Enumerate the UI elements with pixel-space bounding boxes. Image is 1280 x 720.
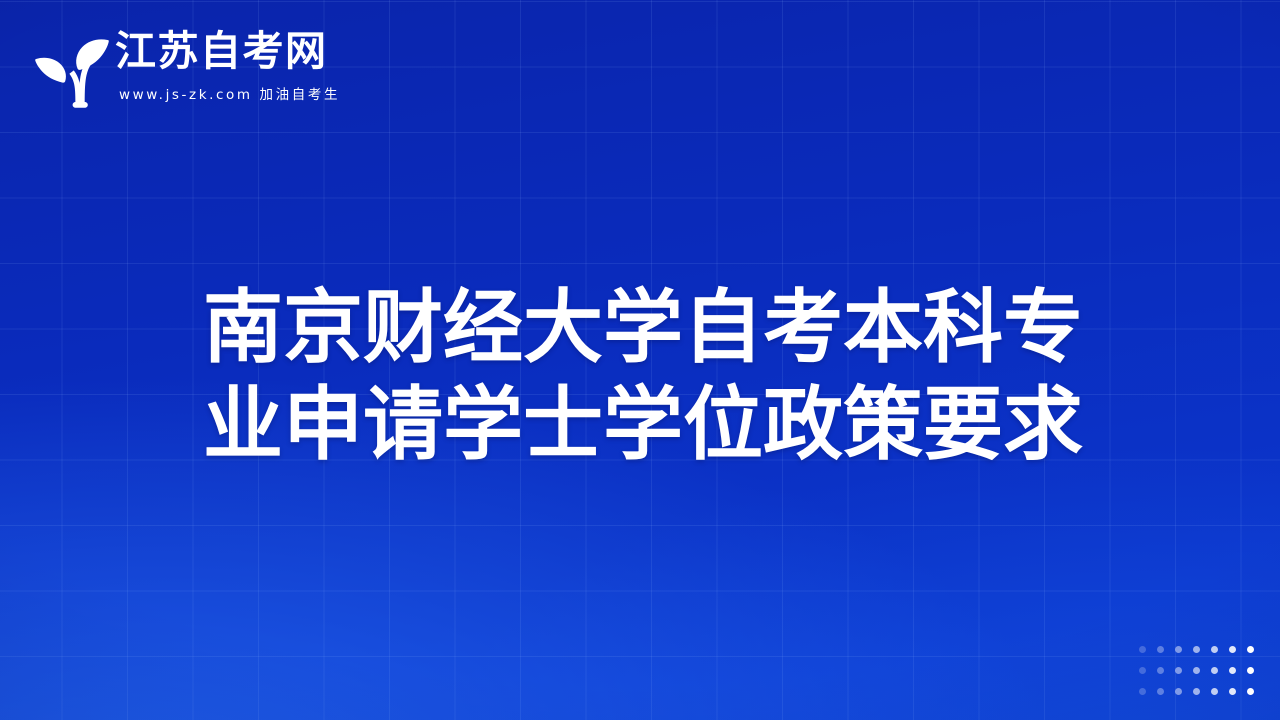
matrix-dot [1229, 667, 1236, 674]
matrix-dot [1157, 667, 1164, 674]
matrix-dot [1157, 646, 1164, 653]
matrix-dot [1211, 688, 1218, 695]
matrix-dot [1175, 688, 1182, 695]
matrix-dot [1247, 646, 1254, 653]
sprout-leaf-icon [33, 31, 111, 111]
matrix-dot [1229, 688, 1236, 695]
site-logo[interactable]: 江苏自考网 www.js-zk.com 加油自考生 [33, 28, 340, 111]
page-title-line-1: 南京财经大学自考本科专 [203, 279, 1093, 376]
matrix-dot [1247, 688, 1254, 695]
matrix-dot [1193, 667, 1200, 674]
page-title: 南京财经大学自考本科专 业申请学士学位政策要求 [203, 279, 1093, 473]
matrix-dot [1211, 667, 1218, 674]
matrix-dot [1175, 667, 1182, 674]
matrix-dot [1157, 688, 1164, 695]
gradient-ring-icon-top-right [1055, 7, 1261, 213]
gradient-ring-icon-bottom-left [10, 529, 182, 701]
logo-title: 江苏自考网 [115, 30, 340, 73]
matrix-dot [1139, 646, 1146, 653]
matrix-dot [1175, 646, 1182, 653]
matrix-dot [1211, 646, 1218, 653]
slide-canvas: 江苏自考网 www.js-zk.com 加油自考生 南京财经大学自考本科专 业申… [0, 0, 1280, 720]
logo-text-block: 江苏自考网 www.js-zk.com 加油自考生 [115, 28, 340, 103]
page-title-line-2: 业申请学士学位政策要求 [203, 376, 1093, 473]
matrix-dot [1247, 667, 1254, 674]
matrix-dot [1193, 646, 1200, 653]
matrix-dot [1139, 688, 1146, 695]
matrix-dot [1139, 667, 1146, 674]
matrix-dot [1229, 646, 1236, 653]
dot-matrix-decoration [1133, 639, 1259, 702]
matrix-dot [1193, 688, 1200, 695]
logo-subtitle: www.js-zk.com 加油自考生 [119, 83, 340, 103]
